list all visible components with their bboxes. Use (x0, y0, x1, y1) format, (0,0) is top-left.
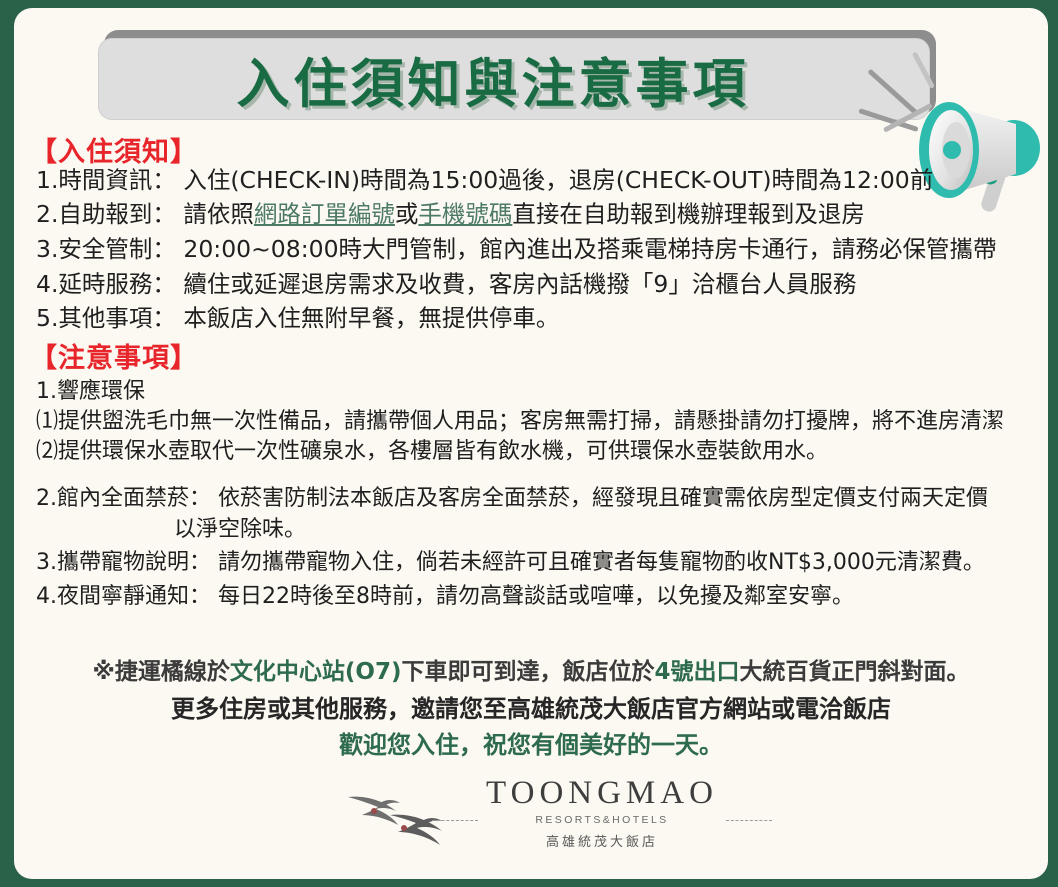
checkin-item-5-label: 其他事項： (58, 304, 176, 332)
checkin-item-2-pre: 請依照 (176, 200, 254, 228)
notice-item-1-title: 1.響應環保 (36, 379, 145, 405)
title-banner: 入住須知與注意事項 (98, 30, 936, 120)
checkin-item-5-text: 本飯店入住無附早餐，無提供停車。 (176, 304, 559, 332)
checkin-item-1-text: 入住(CHECK-IN)時間為15:00過後，退房(CHECK-OUT)時間為1… (176, 166, 933, 194)
poster-root: 入住須知與注意事項 (0, 0, 1058, 887)
notice-item-4: 4.夜間寧靜通知： 每日22時後至8時前，請勿高聲談話或喧嘩，以免擾及鄰室安寧。 (36, 584, 854, 610)
checkin-item-1-num: 1. (36, 166, 58, 194)
footer-exit-name: 4號出口 (654, 659, 739, 685)
section-heading-notices: 【注意事項】 (30, 336, 198, 375)
checkin-item-2-post: 直接在自助報到機辦理報到及退房 (512, 200, 865, 228)
checkin-item-3-num: 3. (36, 235, 58, 263)
poster-sheet: 入住須知與注意事項 (14, 8, 1048, 879)
megaphone-icon (894, 76, 1048, 226)
checkin-item-3-label: 安全管制： (58, 235, 176, 263)
checkin-item-4: 4.延時服務： 續住或延遲退房需求及收費，客房內話機撥「9」洽櫃台人員服務 (36, 271, 856, 299)
link-booking-number[interactable]: 網路訂單編號 (254, 200, 395, 228)
footer-welcome-note: 歡迎您入住，祝您有個美好的一天。 (14, 725, 1048, 760)
notice-item-2: 2.館內全面禁菸： 依菸害防制法本飯店及客房全面禁菸，經發現且確實需依房型定價支… (36, 486, 988, 512)
checkin-item-3-text: 20:00~08:00時大門管制，館內進出及搭乘電梯持房卡通行，請務必保管攜帶 (176, 235, 997, 263)
checkin-item-2-mid: 或 (395, 200, 419, 228)
logo-brand-chinese: 高雄統茂大飯店 (486, 831, 718, 850)
checkin-item-1-label: 時間資訊： (58, 166, 176, 194)
page-title: 入住須知與注意事項 (98, 42, 888, 118)
footer-line1-post: 大統百貨正門斜對面。 (739, 659, 969, 685)
logo-brand-name: TOONGMAO (486, 776, 718, 811)
footer-services-note: 更多住房或其他服務，邀請您至高雄統茂大飯店官方網站或電洽飯店 (14, 689, 1048, 724)
footer-line1-mid: 下車即可到達，飯店位於 (401, 659, 654, 685)
checkin-item-3: 3.安全管制： 20:00~08:00時大門管制，館內進出及搭乘電梯持房卡通行，… (36, 236, 997, 264)
checkin-item-2: 2.自助報到： 請依照網路訂單編號或手機號碼直接在自助報到機辦理報到及退房 (36, 201, 865, 229)
checkin-item-1: 1.時間資訊： 入住(CHECK-IN)時間為15:00過後，退房(CHECK-… (36, 167, 933, 195)
checkin-item-4-label: 延時服務： (58, 270, 176, 298)
checkin-item-5-num: 5. (36, 304, 58, 332)
brand-logo: TOONGMAO RESORTS&HOTELS 高雄統茂大飯店 (14, 776, 1048, 850)
checkin-item-2-label: 自助報到： (58, 200, 176, 228)
link-phone-number[interactable]: 手機號碼 (418, 200, 512, 228)
checkin-item-4-num: 4. (36, 270, 58, 298)
notice-item-1-sub-1: ⑴提供盥洗毛巾無一次性備品，請攜帶個人用品；客房無需打掃，請懸掛請勿打擾牌，將不… (36, 409, 1004, 435)
footer-station-name: 文化中心站(O7) (230, 659, 402, 685)
logo-brand-subtitle: RESORTS&HOTELS (486, 814, 718, 826)
checkin-item-5: 5.其他事項： 本飯店入住無附早餐，無提供停車。 (36, 305, 559, 333)
notice-item-3: 3.攜帶寵物說明： 請勿攜帶寵物入住，倘若未經許可且確實者每隻寵物酌收NT$3,… (36, 550, 985, 576)
footer-transit-note: ※捷運橘線於文化中心站(O7)下車即可到達，飯店位於4號出口大統百貨正門斜對面。 (14, 652, 1048, 686)
flying-cranes-icon (344, 781, 472, 845)
logo-text-block: TOONGMAO RESORTS&HOTELS 高雄統茂大飯店 (486, 776, 718, 850)
notice-item-1-sub-2: ⑵提供環保水壺取代一次性礦泉水，各樓層皆有飲水機，可供環保水壺裝飲用水。 (36, 439, 828, 465)
footer-line1-pre: ※捷運橘線於 (93, 659, 230, 685)
checkin-item-2-num: 2. (36, 200, 58, 228)
notice-item-2-continued: 以淨空除味。 (174, 517, 306, 543)
section-heading-checkin: 【入住須知】 (30, 130, 198, 169)
checkin-item-4-text: 續住或延遲退房需求及收費，客房內話機撥「9」洽櫃台人員服務 (176, 270, 856, 298)
